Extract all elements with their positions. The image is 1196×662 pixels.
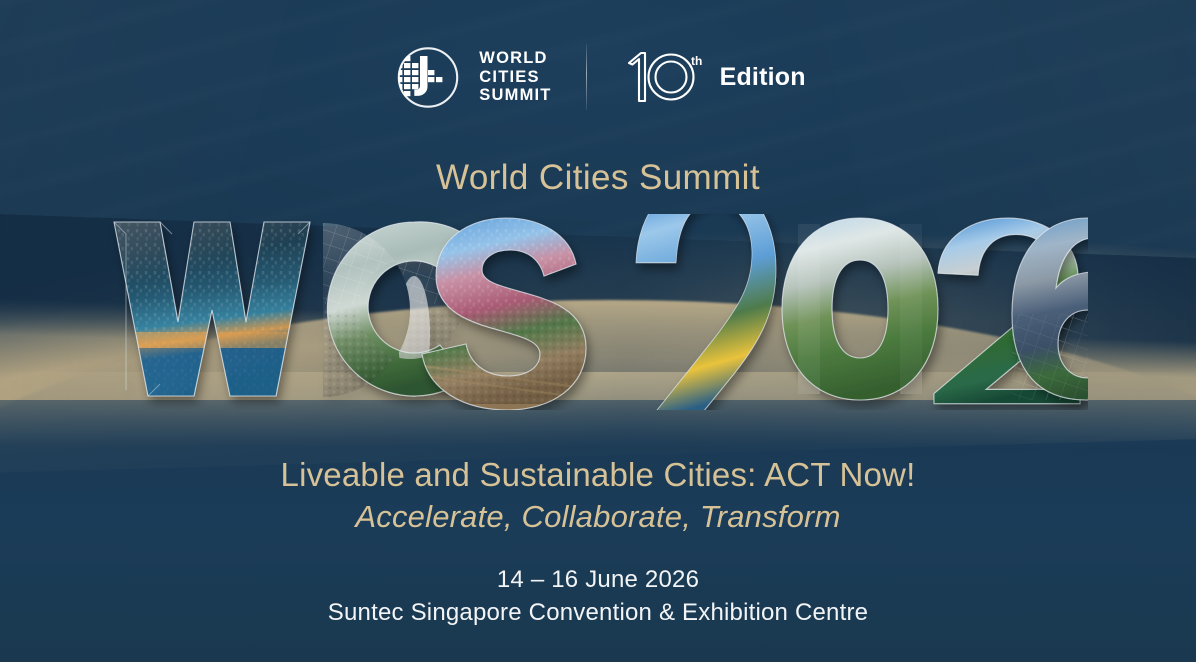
wcs-2026-wordmark — [0, 214, 1196, 410]
world-cities-summit-logo[interactable]: WORLD CITIES SUMMIT — [390, 46, 551, 109]
world-cities-summit-skyline-mark-icon — [390, 46, 466, 109]
tenth-edition-badge: th Edition — [621, 47, 806, 107]
world-cities-summit-wordmark: WORLD CITIES SUMMIT — [479, 49, 551, 105]
tagline-line-1: Liveable and Sustainable Cities: ACT Now… — [0, 456, 1196, 494]
brand-lockup: WORLD CITIES SUMMIT th Edition — [0, 44, 1196, 110]
page-title: World Cities Summit — [0, 158, 1196, 198]
tagline-line-2: Accelerate, Collaborate, Transform — [0, 499, 1196, 535]
wcs-2026-poster: WORLD CITIES SUMMIT th Edition W — [0, 0, 1196, 662]
wordmark-digit-2-first — [634, 214, 778, 410]
event-details: 14 – 16 June 2026 Suntec Singapore Conve… — [0, 566, 1196, 627]
edition-label: Edition — [720, 63, 806, 92]
lockup-divider — [586, 44, 587, 110]
ten-numeral-icon: th — [621, 47, 713, 107]
wordmark-digit-6 — [1012, 218, 1088, 400]
event-tagline: Liveable and Sustainable Cities: ACT Now… — [0, 456, 1196, 535]
logo-line-world: WORLD — [479, 49, 551, 68]
wordmark-letter-w — [108, 214, 318, 404]
event-dates: 14 – 16 June 2026 — [0, 566, 1196, 594]
wordmark-digit-0 — [782, 218, 938, 400]
svg-text:th: th — [691, 54, 702, 68]
logo-line-summit: SUMMIT — [479, 86, 551, 105]
event-venue: Suntec Singapore Convention & Exhibition… — [0, 599, 1196, 627]
logo-line-cities: CITIES — [479, 68, 551, 87]
